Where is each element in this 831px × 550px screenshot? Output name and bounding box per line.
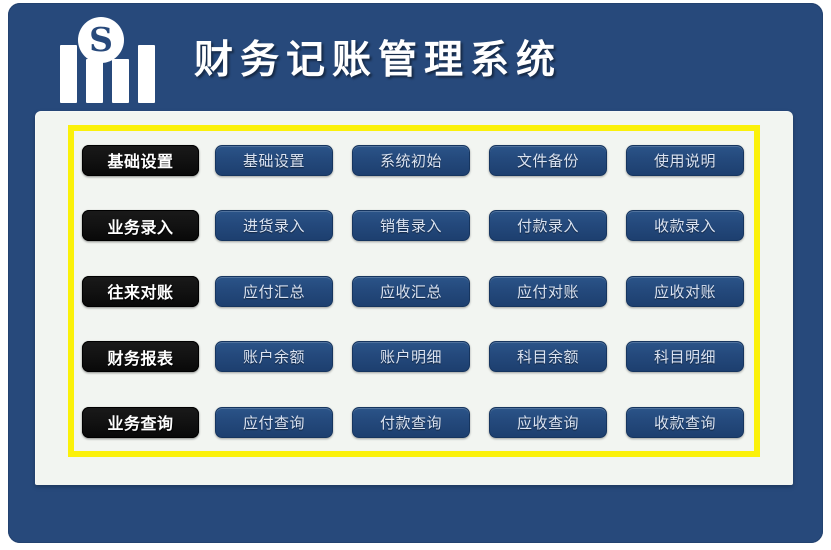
category-label-business-entry[interactable]: 业务录入 xyxy=(82,210,199,241)
menu-button-basic-settings[interactable]: 基础设置 xyxy=(215,145,333,176)
application-window: S 财务记账管理系统 基础设置 基础设置 系统初始 文件备份 使用说明 业务 xyxy=(8,3,823,543)
category-label-basic-settings[interactable]: 基础设置 xyxy=(82,145,199,176)
menu-button-usage-guide[interactable]: 使用说明 xyxy=(626,145,744,176)
menu-button-system-init[interactable]: 系统初始 xyxy=(352,145,470,176)
menu-button-payable-reconcile[interactable]: 应付对账 xyxy=(489,276,607,307)
menu-row: 业务查询 应付查询 付款查询 应收查询 收款查询 xyxy=(82,406,744,438)
category-label-financial-reports[interactable]: 财务报表 xyxy=(82,341,199,372)
menu-row: 往来对账 应付汇总 应收汇总 应付对账 应收对账 xyxy=(82,275,744,307)
menu-button-payment-query[interactable]: 付款查询 xyxy=(352,407,470,438)
logo-medallion-icon: S xyxy=(78,17,124,63)
menu-button-purchase-entry[interactable]: 进货录入 xyxy=(215,210,333,241)
menu-button-receipt-entry[interactable]: 收款录入 xyxy=(626,210,744,241)
menu-row: 财务报表 账户余额 账户明细 科目余额 科目明细 xyxy=(82,341,744,373)
logo-bar-2 xyxy=(86,59,103,103)
menu-frame: 基础设置 基础设置 系统初始 文件备份 使用说明 业务录入 进货录入 销售录入 xyxy=(68,125,760,457)
menu-button-payment-entry[interactable]: 付款录入 xyxy=(489,210,607,241)
page-title: 财务记账管理系统 xyxy=(194,29,562,85)
menu-button-receivable-query[interactable]: 应收查询 xyxy=(489,407,607,438)
menu-button-sales-entry[interactable]: 销售录入 xyxy=(352,210,470,241)
menu-button-account-detail[interactable]: 账户明细 xyxy=(352,341,470,372)
logo-bar-3 xyxy=(112,59,129,103)
logo-bar-1 xyxy=(60,45,77,103)
menu-row: 基础设置 基础设置 系统初始 文件备份 使用说明 xyxy=(82,144,744,176)
app-header: S 财务记账管理系统 xyxy=(8,3,823,111)
category-label-reconciliation[interactable]: 往来对账 xyxy=(82,276,199,307)
logo-bar-4 xyxy=(138,45,155,103)
menu-row: 业务录入 进货录入 销售录入 付款录入 收款录入 xyxy=(82,210,744,242)
category-label-business-query[interactable]: 业务查询 xyxy=(82,407,199,438)
menu-button-receipt-query[interactable]: 收款查询 xyxy=(626,407,744,438)
bar-chart-logo-icon: S xyxy=(56,17,176,103)
menu-button-subject-balance[interactable]: 科目余额 xyxy=(489,341,607,372)
menu-button-account-balance[interactable]: 账户余额 xyxy=(215,341,333,372)
menu-button-receivable-reconcile[interactable]: 应收对账 xyxy=(626,276,744,307)
menu-button-file-backup[interactable]: 文件备份 xyxy=(489,145,607,176)
menu-button-receivable-summary[interactable]: 应收汇总 xyxy=(352,276,470,307)
menu-button-payable-summary[interactable]: 应付汇总 xyxy=(215,276,333,307)
menu-grid: 基础设置 基础设置 系统初始 文件备份 使用说明 业务录入 进货录入 销售录入 xyxy=(74,131,754,451)
content-panel: 基础设置 基础设置 系统初始 文件备份 使用说明 业务录入 进货录入 销售录入 xyxy=(35,111,793,485)
menu-button-subject-detail[interactable]: 科目明细 xyxy=(626,341,744,372)
menu-button-payable-query[interactable]: 应付查询 xyxy=(215,407,333,438)
